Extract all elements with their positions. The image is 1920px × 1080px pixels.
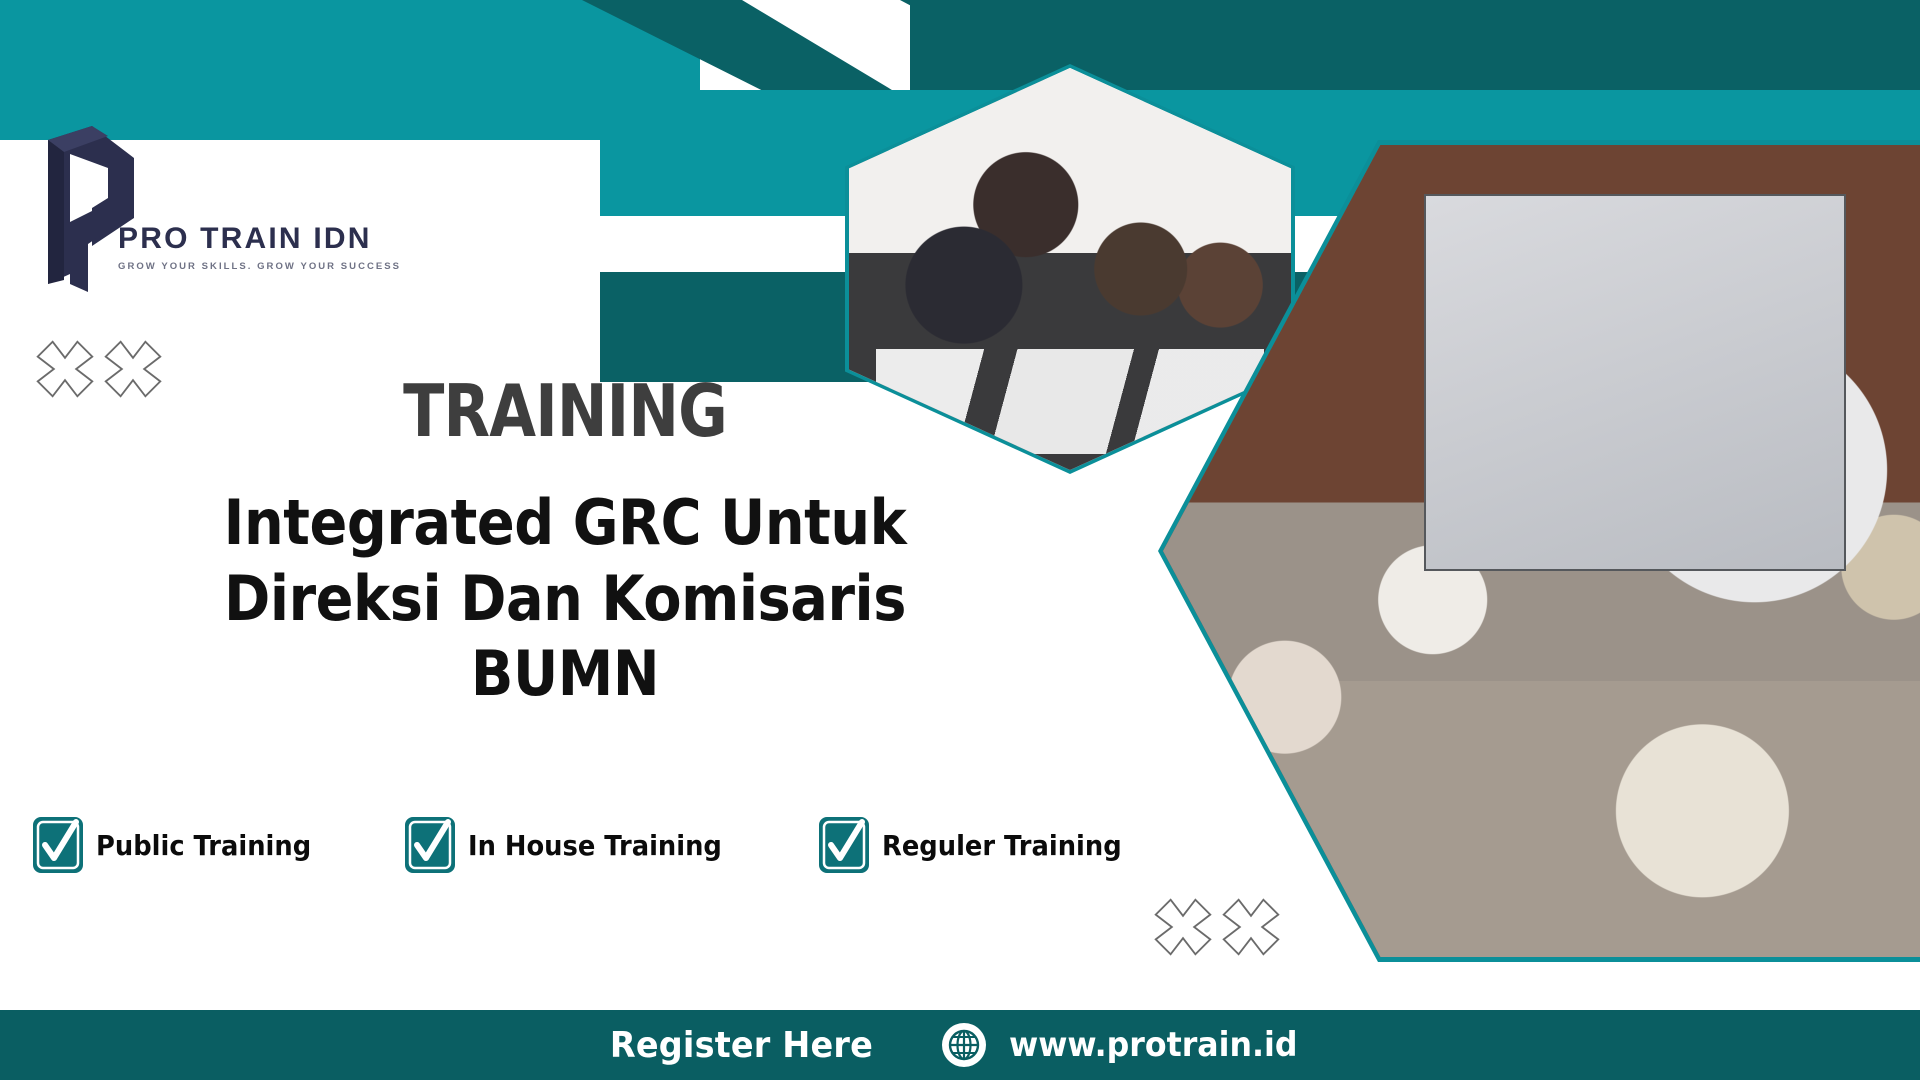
checkbox-checked-icon[interactable] — [32, 816, 84, 874]
title-line-1: Integrated GRC Untuk — [183, 485, 948, 561]
decor-x-group-bottom — [1152, 896, 1282, 958]
training-option-public[interactable]: Public Training — [32, 816, 330, 874]
register-here-cta[interactable]: Register Here — [610, 1025, 873, 1066]
training-option-in-house[interactable]: In House Training — [404, 816, 744, 874]
training-option-label: Public Training — [96, 829, 311, 862]
x-cross-outline-icon — [1220, 896, 1282, 958]
x-cross-outline-icon — [1152, 896, 1214, 958]
kicker-training: TRAINING — [208, 375, 922, 447]
training-option-label: In House Training — [468, 829, 722, 862]
website-group[interactable]: www.protrain.id — [941, 1022, 1319, 1068]
checkbox-checked-icon[interactable] — [404, 816, 456, 874]
footer-bar: Register Here www.protrain.id — [0, 1010, 1920, 1080]
training-option-reguler[interactable]: Reguler Training — [818, 816, 1143, 874]
title-line-3: BUMN — [183, 636, 948, 712]
website-url[interactable]: www.protrain.id — [1009, 1025, 1297, 1065]
page-title: Integrated GRC Untuk Direksi Dan Komisar… — [183, 485, 948, 712]
headline-block: TRAINING Integrated GRC Untuk Direksi Da… — [140, 375, 990, 712]
training-poster: PRO TRAIN IDN GROW YOUR SKILLS. GROW YOU… — [0, 0, 1920, 1080]
logo-tagline: GROW YOUR SKILLS. GROW YOUR SUCCESS — [118, 261, 401, 272]
x-cross-outline-icon — [34, 338, 96, 400]
title-line-2: Direksi Dan Komisaris — [183, 561, 948, 637]
globe-icon — [941, 1022, 987, 1068]
logo-text-block: PRO TRAIN IDN GROW YOUR SKILLS. GROW YOU… — [118, 222, 401, 272]
brand-logo[interactable]: PRO TRAIN IDN GROW YOUR SKILLS. GROW YOU… — [30, 122, 402, 294]
training-options-row: Public Training In House Training Regule… — [32, 816, 1142, 874]
checkbox-checked-icon[interactable] — [818, 816, 870, 874]
logo-name: PRO TRAIN IDN — [118, 222, 401, 256]
training-option-label: Reguler Training — [882, 829, 1122, 862]
top-left-teal-block — [0, 0, 700, 140]
